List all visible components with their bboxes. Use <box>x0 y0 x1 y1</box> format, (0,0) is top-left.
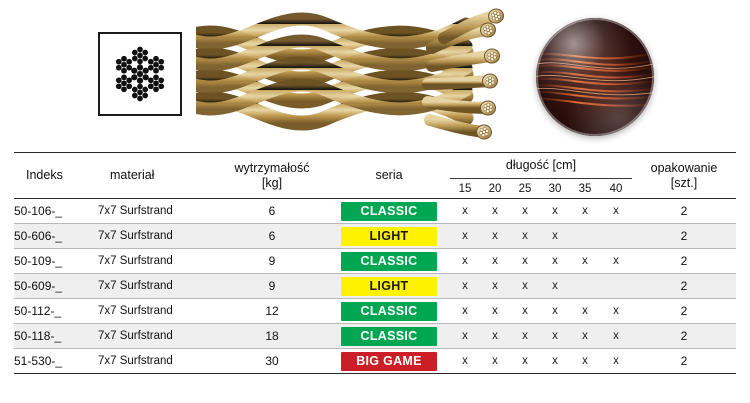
header-material: materiał <box>98 153 216 199</box>
wire-rope-cross-section-icon <box>98 32 182 116</box>
row-length-15: x <box>450 199 480 224</box>
table-row: 50-118-_ 7x7 Surfstrand 18 CLASSIC x x x… <box>14 324 736 349</box>
row-packaging: 2 <box>632 349 736 374</box>
row-length-30: x <box>540 349 570 374</box>
header-length-30: 30 <box>540 179 570 199</box>
row-packaging: 2 <box>632 249 736 274</box>
row-series: CLASSIC <box>328 249 450 274</box>
header-length-15: 15 <box>450 179 480 199</box>
row-length-35: x <box>570 199 600 224</box>
row-index: 50-106-_ <box>14 199 98 224</box>
header-series: seria <box>328 153 450 199</box>
table-row: 50-112-_ 7x7 Surfstrand 12 CLASSIC x x x… <box>14 299 736 324</box>
row-index: 51-530-_ <box>14 349 98 374</box>
table-row: 50-606-_ 7x7 Surfstrand 6 LIGHT x x x x … <box>14 224 736 249</box>
row-packaging: 2 <box>632 199 736 224</box>
row-length-15: x <box>450 349 480 374</box>
row-material: 7x7 Surfstrand <box>98 274 216 299</box>
series-badge: CLASSIC <box>341 252 437 271</box>
row-series: CLASSIC <box>328 199 450 224</box>
row-packaging: 2 <box>632 274 736 299</box>
header-packaging-line2: [szt.] <box>632 176 736 190</box>
row-length-25: x <box>510 274 540 299</box>
cross-section-svg <box>100 34 180 114</box>
table-row: 50-109-_ 7x7 Surfstrand 9 CLASSIC x x x … <box>14 249 736 274</box>
series-badge: CLASSIC <box>341 202 437 221</box>
row-length-20: x <box>480 349 510 374</box>
spec-table: Indeks materiał wytrzymałość [kg] seria … <box>14 152 736 374</box>
row-length-15: x <box>450 299 480 324</box>
row-length-30: x <box>540 324 570 349</box>
row-length-25: x <box>510 299 540 324</box>
row-length-35: x <box>570 249 600 274</box>
row-length-20: x <box>480 299 510 324</box>
row-strength: 6 <box>216 224 328 249</box>
row-series: CLASSIC <box>328 324 450 349</box>
table-row: 50-609-_ 7x7 Surfstrand 9 LIGHT x x x x … <box>14 274 736 299</box>
row-series: CLASSIC <box>328 299 450 324</box>
row-length-25: x <box>510 349 540 374</box>
row-series: LIGHT <box>328 224 450 249</box>
row-length-35: x <box>570 299 600 324</box>
row-length-40: x <box>600 349 632 374</box>
row-length-30: x <box>540 224 570 249</box>
series-badge: CLASSIC <box>341 302 437 321</box>
row-packaging: 2 <box>632 224 736 249</box>
row-index: 50-609-_ <box>14 274 98 299</box>
row-strength: 9 <box>216 249 328 274</box>
row-series: BIG GAME <box>328 349 450 374</box>
header-row-top: Indeks materiał wytrzymałość [kg] seria … <box>14 153 736 179</box>
row-length-40: x <box>600 324 632 349</box>
row-length-30: x <box>540 249 570 274</box>
series-badge: LIGHT <box>341 277 437 296</box>
header-packaging: opakowanie [szt.] <box>632 153 736 199</box>
row-strength: 18 <box>216 324 328 349</box>
illustration-band <box>0 0 750 148</box>
table-row: 51-530-_ 7x7 Surfstrand 30 BIG GAME x x … <box>14 349 736 374</box>
row-length-25: x <box>510 249 540 274</box>
row-strength: 9 <box>216 274 328 299</box>
row-index: 50-109-_ <box>14 249 98 274</box>
header-length-20: 20 <box>480 179 510 199</box>
header-length-40: 40 <box>600 179 632 199</box>
row-length-15: x <box>450 249 480 274</box>
row-length-20: x <box>480 224 510 249</box>
magnified-rope-detail <box>536 18 654 136</box>
row-length-25: x <box>510 224 540 249</box>
row-length-35 <box>570 274 600 299</box>
row-length-40: x <box>600 299 632 324</box>
row-material: 7x7 Surfstrand <box>98 249 216 274</box>
row-length-20: x <box>480 249 510 274</box>
row-length-15: x <box>450 324 480 349</box>
header-length-group: długość [cm] <box>450 153 632 179</box>
row-material: 7x7 Surfstrand <box>98 199 216 224</box>
header-strength: wytrzymałość [kg] <box>216 153 328 199</box>
row-length-15: x <box>450 224 480 249</box>
rope-svg <box>196 8 526 143</box>
row-length-40: x <box>600 199 632 224</box>
row-strength: 12 <box>216 299 328 324</box>
series-badge: CLASSIC <box>341 327 437 346</box>
row-length-20: x <box>480 274 510 299</box>
header-packaging-line1: opakowanie <box>632 161 736 175</box>
row-material: 7x7 Surfstrand <box>98 299 216 324</box>
spec-table-body: 50-106-_ 7x7 Surfstrand 6 CLASSIC x x x … <box>14 199 736 374</box>
row-strength: 6 <box>216 199 328 224</box>
header-strength-line1: wytrzymałość <box>216 161 328 175</box>
braided-wire-rope-illustration <box>196 8 526 143</box>
row-length-20: x <box>480 199 510 224</box>
row-material: 7x7 Surfstrand <box>98 324 216 349</box>
row-length-40: x <box>600 249 632 274</box>
row-series: LIGHT <box>328 274 450 299</box>
row-length-35 <box>570 224 600 249</box>
row-index: 50-118-_ <box>14 324 98 349</box>
row-length-25: x <box>510 324 540 349</box>
row-length-20: x <box>480 324 510 349</box>
row-length-25: x <box>510 199 540 224</box>
series-badge: BIG GAME <box>341 352 437 371</box>
row-material: 7x7 Surfstrand <box>98 349 216 374</box>
table-row: 50-106-_ 7x7 Surfstrand 6 CLASSIC x x x … <box>14 199 736 224</box>
row-length-35: x <box>570 349 600 374</box>
header-length-25: 25 <box>510 179 540 199</box>
row-length-30: x <box>540 199 570 224</box>
row-length-40 <box>600 274 632 299</box>
row-length-15: x <box>450 274 480 299</box>
row-length-30: x <box>540 274 570 299</box>
product-spec-page: Indeks materiał wytrzymałość [kg] seria … <box>0 0 750 403</box>
magnified-rope-svg <box>536 18 654 136</box>
header-index: Indeks <box>14 153 98 199</box>
row-length-35: x <box>570 324 600 349</box>
row-packaging: 2 <box>632 299 736 324</box>
row-length-30: x <box>540 299 570 324</box>
row-index: 50-112-_ <box>14 299 98 324</box>
row-index: 50-606-_ <box>14 224 98 249</box>
row-strength: 30 <box>216 349 328 374</box>
header-strength-line2: [kg] <box>216 176 328 190</box>
spec-table-head: Indeks materiał wytrzymałość [kg] seria … <box>14 153 736 199</box>
row-packaging: 2 <box>632 324 736 349</box>
row-material: 7x7 Surfstrand <box>98 224 216 249</box>
header-length-35: 35 <box>570 179 600 199</box>
series-badge: LIGHT <box>341 227 437 246</box>
row-length-40 <box>600 224 632 249</box>
spec-table-container: Indeks materiał wytrzymałość [kg] seria … <box>14 152 736 374</box>
